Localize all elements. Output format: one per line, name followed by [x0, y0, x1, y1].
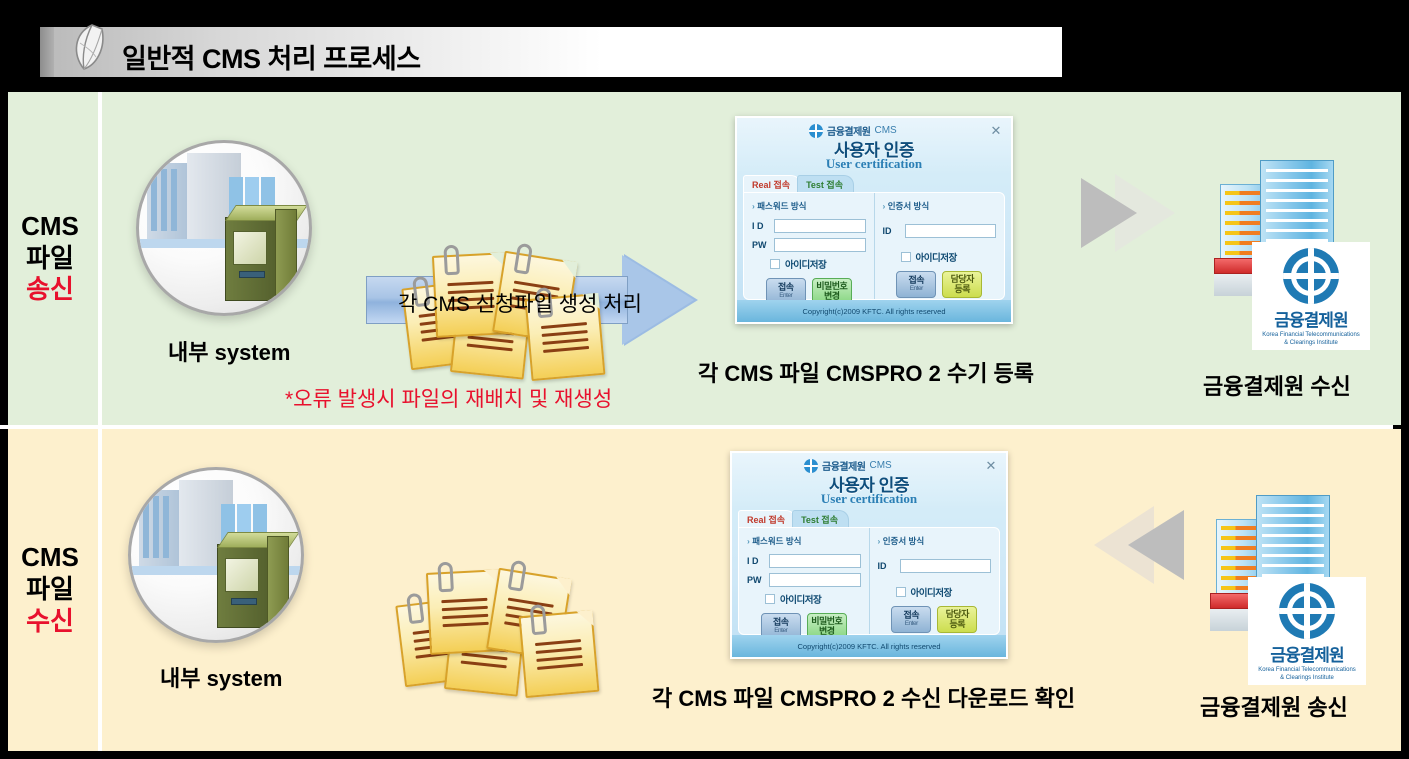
certificate-connect-button[interactable]: 접속 Enter — [896, 271, 936, 298]
password-remember-checkbox[interactable] — [770, 259, 780, 269]
header-accent-tab — [40, 27, 54, 77]
dialog-panel: 패스워드 방식 I D PW 아이디저장 — [738, 527, 1000, 635]
certificate-remember-row[interactable]: 아이디저장 — [901, 250, 997, 264]
dialog-header: 금융결제원 CMS 사용자 인증 User certification ✕ — [732, 453, 1006, 513]
certificate-remember-label: 아이디저장 — [916, 250, 957, 264]
slide-canvas: 일반적 CMS 처리 프로세스 CMS 파일 송신 — [0, 0, 1409, 759]
tab-real-access[interactable]: Real 접속 — [743, 175, 801, 192]
kftc-logo-icon — [1283, 248, 1339, 304]
row-label-receive: CMS 파일 수신 — [8, 429, 92, 751]
dialog-brand-en: CMS — [870, 460, 892, 471]
kftc-building-icon: 금융결제원 Korea Financial Telecommunications… — [1208, 154, 1388, 354]
certificate-connect-button[interactable]: 접속 Enter — [891, 606, 931, 633]
password-remember-checkbox[interactable] — [765, 594, 775, 604]
dialog-header: 금융결제원 CMS 사용자 인증 User certification ✕ — [737, 118, 1011, 178]
row-label-line2: 파일 — [26, 574, 74, 606]
certificate-connect-sub: Enter — [910, 286, 923, 293]
close-icon[interactable]: ✕ — [984, 459, 998, 473]
cms-login-dialog-receive[interactable]: 금융결제원 CMS 사용자 인증 User certification ✕ Re… — [730, 451, 1008, 659]
password-id-input[interactable] — [774, 219, 866, 233]
certificate-remember-row[interactable]: 아이디저장 — [896, 585, 992, 599]
certificate-buttons: 접속 Enter 담당자 등록 — [883, 271, 997, 298]
row-cms-send: CMS 파일 송신 내부 system — [8, 92, 1401, 425]
row-divider — [98, 92, 102, 425]
password-method-title: 패스워드 방식 — [752, 200, 866, 212]
manager-register-button[interactable]: 담당자 등록 — [942, 271, 982, 298]
leaf-icon — [62, 19, 122, 79]
row-label-line1: CMS — [21, 542, 79, 574]
password-remember-row[interactable]: 아이디저장 — [765, 592, 861, 606]
row-label-send: CMS 파일 송신 — [8, 92, 92, 425]
kftc-logo-name-kr: 금융결제원 — [1274, 306, 1347, 331]
tab-test-access[interactable]: Test 접속 — [797, 175, 854, 192]
certificate-remember-label: 아이디저장 — [911, 585, 952, 599]
close-icon[interactable]: ✕ — [989, 124, 1003, 138]
password-id-field[interactable]: I D — [747, 554, 861, 568]
row-cms-receive: CMS 파일 수신 내부 system — [8, 429, 1401, 751]
header-bar: 일반적 CMS 처리 프로세스 — [40, 27, 1062, 77]
password-remember-label: 아이디저장 — [785, 257, 826, 271]
globe-server-icon — [128, 467, 304, 643]
endpoint-label-receive: 금융결제원 송신 — [1200, 690, 1348, 722]
certificate-id-label: ID — [878, 561, 900, 571]
globe-server-icon — [136, 140, 312, 316]
certificate-id-label: ID — [883, 226, 905, 236]
password-remember-label: 아이디저장 — [780, 592, 821, 606]
row-label-line2: 파일 — [26, 243, 74, 275]
endpoint-label-send: 금융결제원 수신 — [1203, 369, 1351, 401]
page-title: 일반적 CMS 처리 프로세스 — [122, 37, 421, 76]
manager-register-sub: 등록 — [954, 285, 970, 294]
certificate-connect-sub: Enter — [905, 621, 918, 628]
kftc-logo-card: 금융결제원 Korea Financial Telecommunications… — [1248, 577, 1366, 685]
password-pw-input[interactable] — [774, 238, 866, 252]
dialog-tabs: Real 접속 Test 접속 — [743, 175, 850, 192]
kftc-logo-name-en-line1: Korea Financial Telecommunications — [1258, 667, 1356, 673]
row-label-line3: 수신 — [26, 606, 74, 638]
cms-login-dialog-send[interactable]: 금융결제원 CMS 사용자 인증 User certification ✕ Re… — [735, 116, 1013, 324]
certificate-method-column: 인증서 방식 ID 아이디저장 접속 Enter — [874, 193, 1005, 299]
process-arrow-send-label: 각 CMS 신청파일 생성 처리 — [398, 288, 642, 318]
password-method-title: 패스워드 방식 — [747, 535, 861, 547]
internal-system-label: 내부 system — [160, 661, 282, 693]
dialog-caption-send: 각 CMS 파일 CMSPRO 2 수기 등록 — [698, 356, 1034, 388]
password-method-column: 패스워드 방식 I D PW 아이디저장 — [744, 193, 874, 299]
password-pw-input[interactable] — [769, 573, 861, 587]
server-tower-icon — [217, 532, 289, 628]
password-pw-field[interactable]: PW — [752, 238, 866, 252]
dialog-caption-receive: 각 CMS 파일 CMSPRO 2 수신 다운로드 확인 — [652, 681, 1075, 713]
double-chevron-left-icon — [1080, 506, 1188, 584]
dialog-footer: Copyright(c)2009 KFTC. All rights reserv… — [737, 300, 1011, 322]
kftc-logo-icon — [1279, 583, 1335, 639]
certificate-id-field[interactable]: ID — [878, 559, 992, 573]
certificate-method-title: 인증서 방식 — [878, 535, 992, 547]
document-stack-icon — [400, 567, 600, 697]
password-pw-label: PW — [747, 575, 769, 585]
certificate-remember-checkbox[interactable] — [896, 587, 906, 597]
password-id-label: I D — [752, 221, 774, 231]
dialog-subtitle: User certification — [737, 156, 1011, 172]
row-divider — [98, 429, 102, 751]
tab-real-access[interactable]: Real 접속 — [738, 510, 796, 527]
kftc-logo-name-kr: 금융결제원 — [1270, 641, 1343, 666]
dialog-footer: Copyright(c)2009 KFTC. All rights reserv… — [732, 635, 1006, 657]
kftc-logo-name-en: Korea Financial Telecommunications & Cle… — [1262, 332, 1360, 347]
dialog-brand-en: CMS — [875, 125, 897, 136]
row-label-line3: 송신 — [26, 274, 74, 306]
server-tower-icon — [225, 205, 297, 301]
certificate-remember-checkbox[interactable] — [901, 252, 911, 262]
password-remember-row[interactable]: 아이디저장 — [770, 257, 866, 271]
certificate-id-input[interactable] — [900, 559, 992, 573]
kftc-logo-name-en-line1: Korea Financial Telecommunications — [1262, 332, 1360, 338]
certificate-id-field[interactable]: ID — [883, 224, 997, 238]
kftc-logo-name-en: Korea Financial Telecommunications & Cle… — [1258, 667, 1356, 682]
password-connect-sub: Enter — [779, 293, 792, 300]
certificate-buttons: 접속 Enter 담당자 등록 — [878, 606, 992, 633]
error-note-send: *오류 발생시 파일의 재배치 및 재생성 — [285, 383, 612, 413]
dialog-tabs: Real 접속 Test 접속 — [738, 510, 845, 527]
password-id-input[interactable] — [769, 554, 861, 568]
kftc-building-icon: 금융결제원 Korea Financial Telecommunications… — [1204, 489, 1384, 689]
tab-test-access[interactable]: Test 접속 — [792, 510, 849, 527]
dialog-subtitle: User certification — [732, 491, 1006, 507]
certificate-id-input[interactable] — [905, 224, 997, 238]
password-method-column: 패스워드 방식 I D PW 아이디저장 — [739, 528, 869, 634]
manager-register-sub: 등록 — [949, 620, 965, 629]
row-label-line1: CMS — [21, 211, 79, 243]
password-pw-field[interactable]: PW — [747, 573, 861, 587]
password-id-label: I D — [747, 556, 769, 566]
kftc-logo-name-en-line2: & Clearings Institute — [1284, 340, 1338, 346]
kftc-logo-name-en-line2: & Clearings Institute — [1280, 675, 1334, 681]
password-id-field[interactable]: I D — [752, 219, 866, 233]
double-chevron-right-icon — [1081, 174, 1189, 252]
dialog-panel: 패스워드 방식 I D PW 아이디저장 — [743, 192, 1005, 300]
kftc-logo-card: 금융결제원 Korea Financial Telecommunications… — [1252, 242, 1370, 350]
manager-register-button[interactable]: 담당자 등록 — [937, 606, 977, 633]
certificate-method-column: 인증서 방식 ID 아이디저장 접속 Enter — [869, 528, 1000, 634]
password-connect-sub: Enter — [774, 628, 787, 635]
password-pw-label: PW — [752, 240, 774, 250]
certificate-method-title: 인증서 방식 — [883, 200, 997, 212]
internal-system-label: 내부 system — [168, 335, 290, 367]
